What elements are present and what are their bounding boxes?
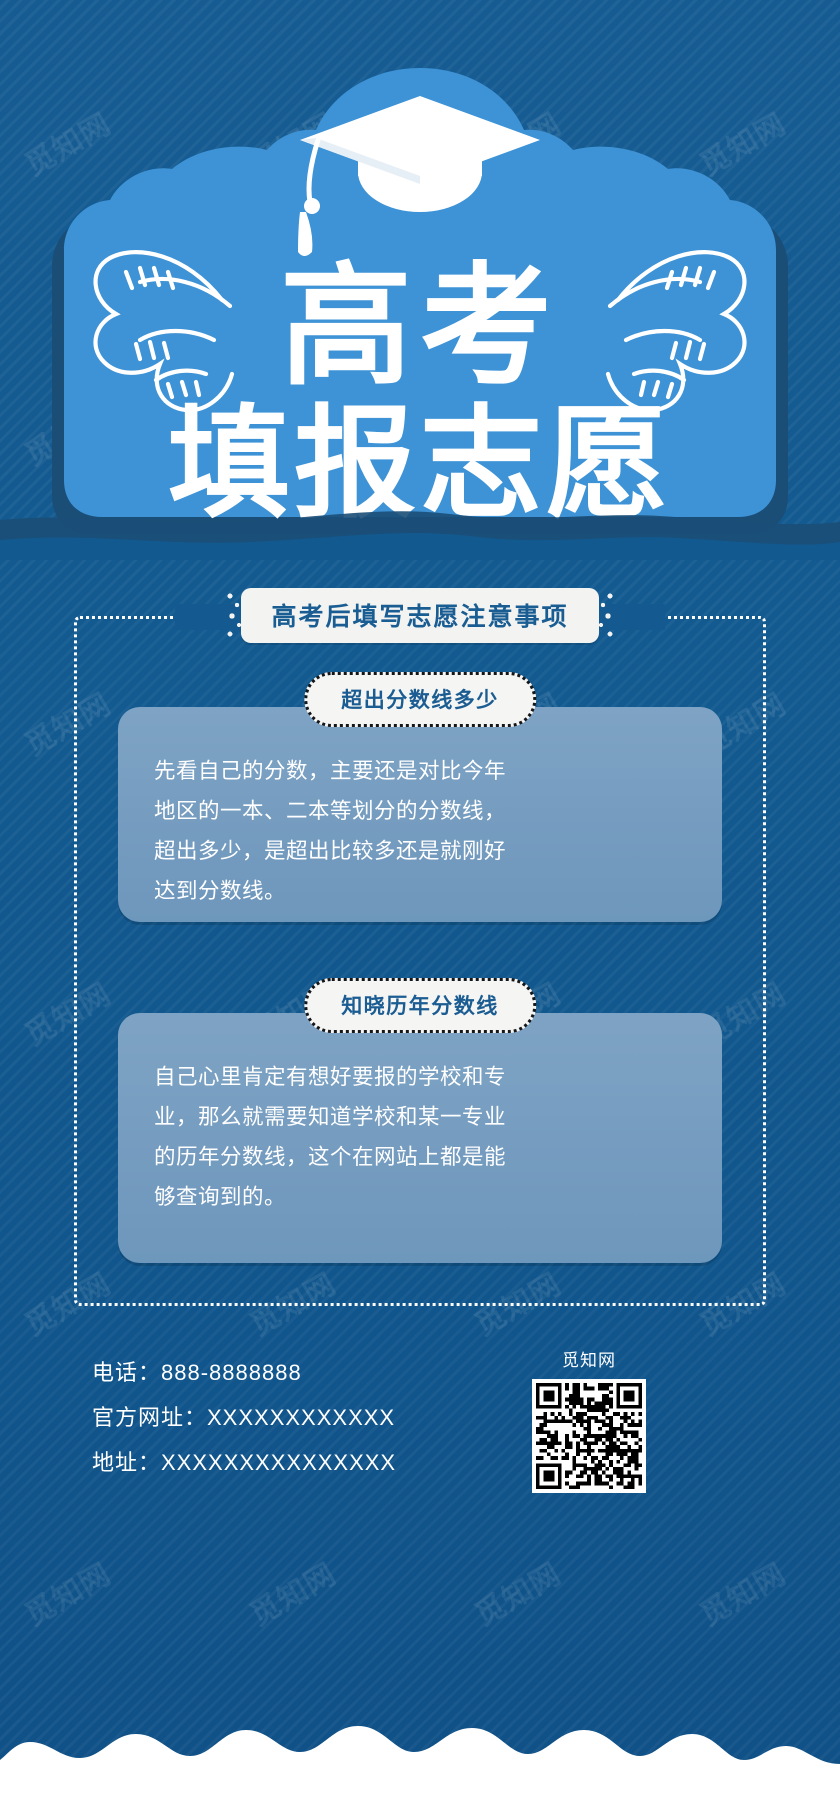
card-body-text-2: 自己心里肯定有想好要报的学校和专 业，那么就需要知道学校和某一专业 的历年分数线…	[154, 1057, 686, 1217]
brand-name: 觅知网	[524, 1346, 654, 1371]
card-title-pill-2: 知晓历年分数线	[304, 978, 536, 1033]
card-body-2: 自己心里肯定有想好要报的学校和专 业，那么就需要知道学校和某一专业 的历年分数线…	[118, 1013, 722, 1217]
cloud-icon	[0, 1668, 840, 1818]
poster-canvas: 觅知网觅知网觅知网觅知网觅知网觅知网觅知网觅知网觅知网觅知网觅知网觅知网觅知网觅…	[0, 0, 840, 1818]
contact-block: 电话：888-8888888 官方网址：XXXXXXXXXXXX 地址：XXXX…	[92, 1350, 396, 1485]
content-card-1: 先看自己的分数，主要还是对比今年 地区的一本、二本等划分的分数线， 超出多少，是…	[118, 707, 722, 922]
brand-column: 觅知网	[524, 1346, 654, 1498]
content-card-2: 自己心里肯定有想好要报的学校和专 业，那么就需要知道学校和某一专业 的历年分数线…	[118, 1013, 722, 1263]
footer: 电话：888-8888888 官方网址：XXXXXXXXXXXX 地址：XXXX…	[0, 1338, 840, 1598]
qr-code-icon[interactable]	[532, 1379, 646, 1493]
section-banner-wrap: 高考后填写志愿注意事项	[0, 588, 840, 643]
address-line: 地址：XXXXXXXXXXXXXXX	[92, 1440, 396, 1485]
card-body-text-1: 先看自己的分数，主要还是对比今年 地区的一本、二本等划分的分数线， 超出多少，是…	[154, 751, 686, 911]
title-line-2: 填报志愿	[168, 396, 672, 532]
card-title-pill-1: 超出分数线多少	[304, 672, 536, 727]
card-body-1: 先看自己的分数，主要还是对比今年 地区的一本、二本等划分的分数线， 超出多少，是…	[118, 707, 722, 911]
website-line: 官方网址：XXXXXXXXXXXX	[92, 1395, 396, 1440]
section-banner: 高考后填写志愿注意事项	[241, 588, 598, 643]
title-line-1: 高考	[280, 253, 560, 400]
header-artwork: 高考 填报志愿	[0, 0, 840, 560]
phone-line: 电话：888-8888888	[92, 1350, 396, 1395]
